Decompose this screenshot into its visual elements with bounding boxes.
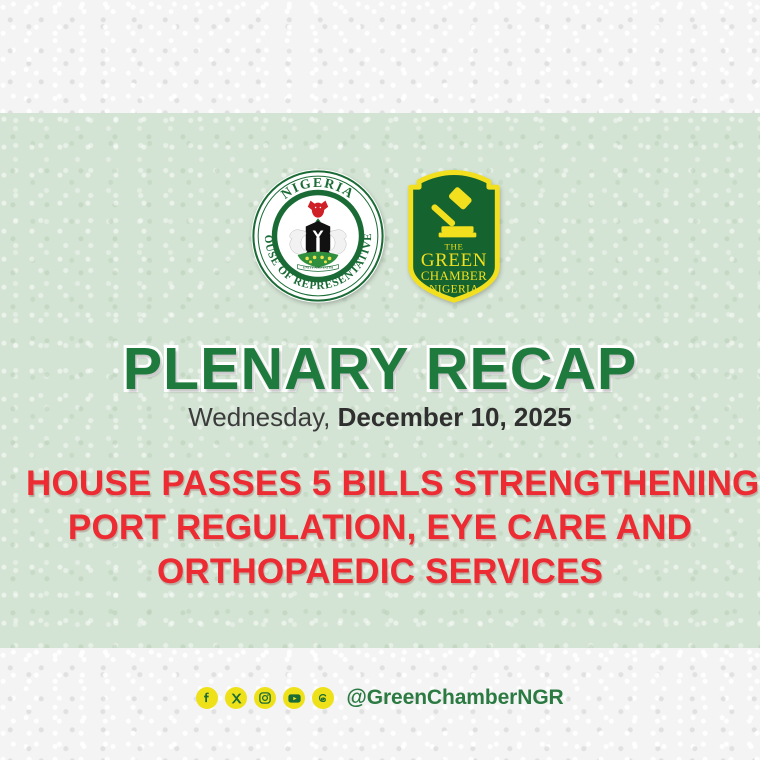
threads-icon[interactable] <box>312 687 334 709</box>
page-title: PLENARY RECAP <box>0 338 760 400</box>
social-handle[interactable]: @GreenChamberNGR <box>346 686 563 710</box>
plenary-recap-poster: NIGERIA HOUSE OF REPRESENTATIVES <box>0 0 760 760</box>
badge-line-nigeria: NIGERIA <box>429 284 479 296</box>
the-green-chamber-nigeria-badge: THE GREEN CHAMBER NIGERIA <box>398 169 510 303</box>
social-bar: @GreenChamberNGR <box>0 686 760 710</box>
logo-row: NIGERIA HOUSE OF REPRESENTATIVES <box>0 168 760 304</box>
badge-line-chamber: CHAMBER <box>421 268 487 283</box>
headline-line-3: ORTHOPAEDIC SERVICES <box>26 550 734 594</box>
date-prefix: Wednesday, <box>188 402 330 432</box>
svg-text:UNITY AND FAITH: UNITY AND FAITH <box>303 265 334 269</box>
facebook-icon[interactable] <box>196 687 218 709</box>
headline: HOUSE PASSES 5 BILLS STRENGTHENING PORT … <box>26 462 734 594</box>
background-band-top <box>0 0 760 113</box>
headline-line-1: HOUSE PASSES 5 BILLS STRENGTHENING <box>26 462 734 506</box>
nigeria-house-of-representatives-seal: NIGERIA HOUSE OF REPRESENTATIVES <box>250 168 386 304</box>
headline-line-2: PORT REGULATION, EYE CARE AND <box>26 506 734 550</box>
youtube-icon[interactable] <box>283 687 305 709</box>
plenary-date: Wednesday, December 10, 2025 <box>0 400 760 434</box>
instagram-icon[interactable] <box>254 687 276 709</box>
x-twitter-icon[interactable] <box>225 687 247 709</box>
date-value: December 10, 2025 <box>338 402 572 432</box>
